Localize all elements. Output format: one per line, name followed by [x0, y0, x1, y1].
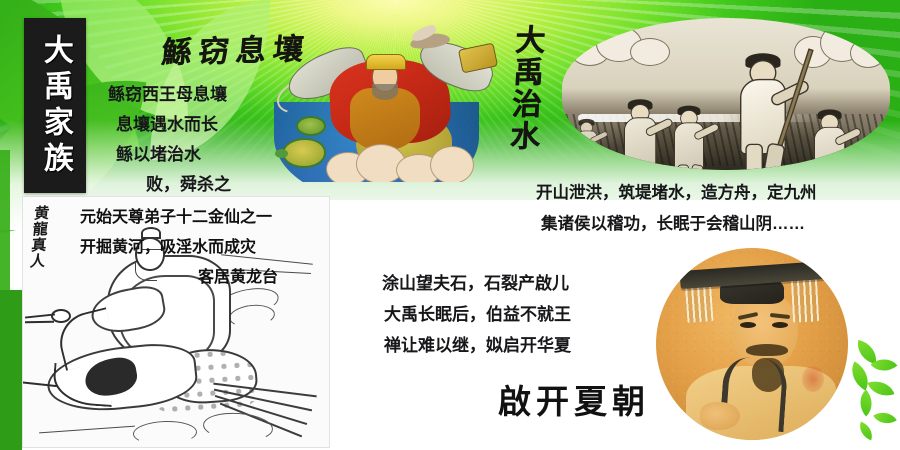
leaf-vine-icon [842, 334, 898, 444]
text-line: 开山泄洪，筑堤堵水，造方舟，定九州 [536, 178, 817, 209]
text-block-gun-qie: 鲧窃西王母息壤 息壤遇水而长 鲧以堵治水 败，舜杀之 [108, 80, 231, 200]
mianguan-bead-strand [791, 277, 819, 322]
portrait-face [732, 294, 798, 368]
illustration-yu-leading-workers [562, 18, 890, 170]
text-line: 集诸侯以稽功，长眠于会稽山阴…… [536, 209, 817, 240]
text-line: 息壤遇水而长 [108, 110, 231, 140]
portrait-emperor-qi [656, 248, 848, 440]
poster-canvas: 大禹家族 鯀窃息壤 鲧窃西王母息壤 息壤遇水而长 鲧以堵治水 败，舜杀之 大禹治… [0, 0, 900, 450]
heading-gun-qie-xi-rang: 鯀窃息壤 [160, 24, 313, 72]
heading-qi-kai-xia-chao: 啟开夏朝 [498, 375, 650, 423]
green-side-bar-upper [0, 150, 10, 295]
portrait-eye [772, 322, 788, 328]
text-line: 败，舜杀之 [108, 170, 231, 200]
text-line: 禅让难以继，姒启开华夏 [382, 330, 571, 361]
text-block-da-yu-zhi-shui: 开山泄洪，筑堤堵水，造方舟，定九州 集诸侯以稽功，长眠于会稽山阴…… [536, 178, 817, 240]
green-side-bar [0, 290, 22, 450]
illustration-cloud-left [570, 24, 674, 72]
text-line: 涂山望夫石，石裂产啟儿 [382, 268, 571, 299]
ink-stroke [39, 426, 135, 434]
illustration-cloud-bank [326, 142, 476, 182]
text-line: 元始天尊弟子十二金仙之一 [80, 203, 278, 233]
portrait-eye [740, 322, 756, 328]
text-block-qi-kai-xia-chao: 涂山望夫石，石裂产啟儿 大禹长眠后，伯益不就王 禅让难以继，姒启开华夏 [382, 268, 571, 361]
text-block-huanglong-zhenren: 元始天尊弟子十二金仙之一 开掘黄河，吸淫水而成灾 客居黄龙台 [80, 203, 278, 293]
text-line: 鲧窃西王母息壤 [108, 80, 231, 110]
turtle-icon [282, 138, 326, 168]
poster-title-banner: 大禹家族 [24, 18, 86, 193]
text-line: 鲧以堵治水 [108, 140, 231, 170]
turtle-icon [296, 116, 326, 136]
text-line: 客居黄龙台 [80, 263, 278, 293]
portrait-hand [700, 402, 740, 430]
page-title: 大禹家族 [39, 34, 71, 178]
illustration-deity-beard [372, 84, 398, 100]
ink-crane-beak [25, 321, 54, 324]
heading-da-yu-zhi-shui: 大禹治水 [502, 24, 545, 152]
text-line: 大禹长眠后，伯益不就王 [382, 299, 571, 330]
text-line: 开掘黄河，吸淫水而成灾 [80, 233, 278, 263]
portrait-mustache [746, 344, 788, 356]
portrait-red-mark [802, 366, 824, 392]
crown-icon [366, 54, 406, 70]
ink-cloud [133, 420, 198, 446]
